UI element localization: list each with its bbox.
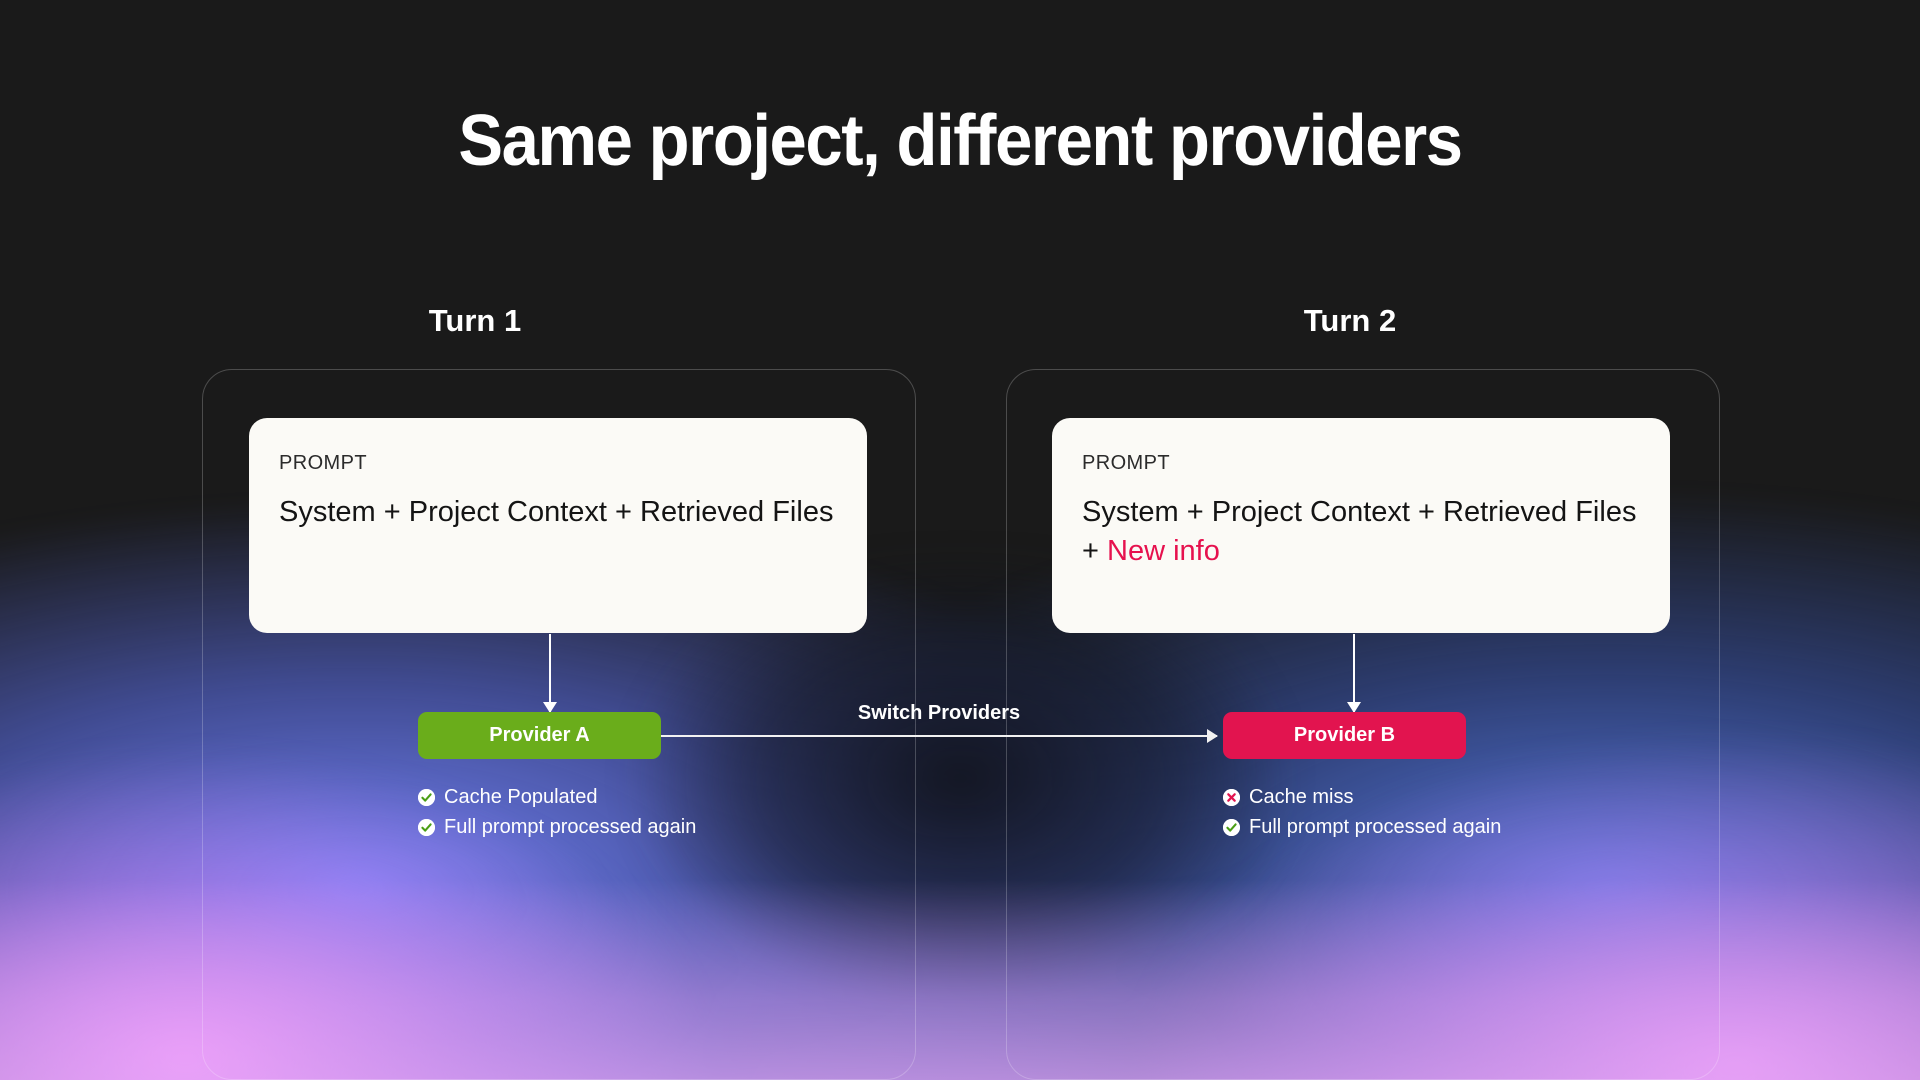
prompt-body-2: System + Project Context + Retrieved Fil…	[1082, 493, 1640, 571]
turn-label-1: Turn 1	[350, 303, 600, 339]
prompt-card-turn-1: PROMPT System + Project Context + Retrie…	[249, 418, 867, 633]
status-item: Cache miss	[1223, 785, 1501, 810]
provider-a-label: Provider A	[489, 724, 589, 747]
prompt-kicker-1: PROMPT	[279, 452, 837, 475]
prompt-text-1: System + Project Context + Retrieved Fil…	[279, 496, 833, 528]
arrow-down-prompt-to-provider-b	[1353, 634, 1355, 712]
status-list-turn-2: Cache miss Full prompt processed again	[1223, 785, 1501, 845]
status-item: Cache Populated	[418, 785, 696, 810]
status-text: Full prompt processed again	[1249, 815, 1501, 840]
arrow-right-switch-providers	[661, 735, 1217, 737]
status-text: Cache miss	[1249, 785, 1353, 810]
background-top-dark	[0, 0, 1920, 420]
turn-label-2: Turn 2	[1225, 303, 1475, 339]
status-list-turn-1: Cache Populated Full prompt processed ag…	[418, 785, 696, 845]
prompt-kicker-2: PROMPT	[1082, 452, 1640, 475]
status-item: Full prompt processed again	[1223, 815, 1501, 840]
status-text: Full prompt processed again	[444, 815, 696, 840]
check-circle-icon	[418, 789, 435, 806]
status-text: Cache Populated	[444, 785, 597, 810]
status-item: Full prompt processed again	[418, 815, 696, 840]
provider-b-label: Provider B	[1294, 724, 1395, 747]
x-circle-icon	[1223, 789, 1240, 806]
check-circle-icon	[1223, 819, 1240, 836]
page-title: Same project, different providers	[67, 100, 1853, 182]
provider-a-button[interactable]: Provider A	[418, 712, 661, 759]
diagram-canvas: Same project, different providers Turn 1…	[0, 0, 1920, 1080]
switch-providers-label: Switch Providers	[661, 702, 1217, 725]
prompt-body-1: System + Project Context + Retrieved Fil…	[279, 493, 837, 532]
provider-b-button[interactable]: Provider B	[1223, 712, 1466, 759]
prompt-accent-text-2: New info	[1107, 535, 1220, 567]
arrow-down-prompt-to-provider-a	[549, 634, 551, 712]
check-circle-icon	[418, 819, 435, 836]
prompt-card-turn-2: PROMPT System + Project Context + Retrie…	[1052, 418, 1670, 633]
